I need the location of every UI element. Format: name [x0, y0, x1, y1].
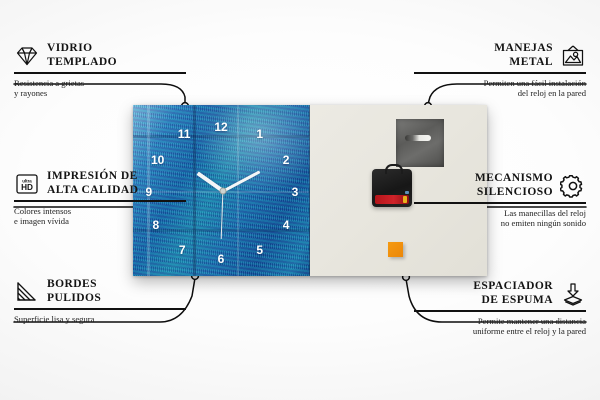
feature-description: Superficie lisa y segura — [14, 314, 186, 325]
clock-minute-hand — [222, 170, 260, 192]
ultra-hd-icon: ultra HD — [14, 172, 40, 196]
clock-numeral-10: 10 — [151, 154, 164, 166]
feature-manejas-metal: MANEJAS METAL Permiten una fácil instala… — [414, 42, 586, 99]
feature-title: MECANISMO SILENCIOSO — [414, 172, 553, 199]
feature-description: Permite mantener una distancia uniforme … — [414, 316, 586, 337]
foam-spacer — [388, 242, 403, 257]
feature-title: ESPACIADOR DE ESPUMA — [414, 280, 553, 307]
feature-divider — [14, 72, 186, 74]
feature-divider — [414, 202, 586, 204]
feature-divider — [14, 308, 186, 310]
battery — [375, 195, 409, 204]
feature-title: IMPRESIÓN DE ALTA CALIDAD — [47, 170, 138, 197]
hanger-slot — [405, 135, 431, 141]
feature-impresion-alta-calidad: ultra HD IMPRESIÓN DE ALTA CALIDAD Color… — [14, 170, 186, 227]
clock-numeral-5: 5 — [256, 244, 263, 256]
feature-vidrio-templado: VIDRIO TEMPLADO Resistencia a grietas y … — [14, 42, 186, 99]
feature-description: Permiten una fácil instalación del reloj… — [414, 78, 586, 99]
picture-frame-icon — [560, 44, 586, 68]
feature-espaciador-espuma: ESPACIADOR DE ESPUMA Permite mantener un… — [414, 280, 586, 337]
feature-mecanismo-silencioso: MECANISMO SILENCIOSO Las manecillas del … — [414, 172, 586, 229]
clock-numeral-1: 1 — [256, 128, 263, 140]
feature-title: MANEJAS METAL — [414, 42, 553, 69]
clock-center-pin — [220, 188, 227, 195]
clock-numeral-6: 6 — [218, 253, 225, 265]
feature-divider — [414, 72, 586, 74]
clock-numeral-7: 7 — [179, 244, 186, 256]
feature-divider — [414, 310, 586, 312]
feature-title: VIDRIO TEMPLADO — [47, 42, 117, 69]
feature-description: Las manecillas del reloj no emiten ningú… — [414, 208, 586, 229]
clock-second-hand — [221, 191, 224, 239]
mechanism-hook — [385, 164, 403, 174]
clock-numeral-8: 8 — [153, 219, 160, 231]
clock-numeral-4: 4 — [283, 219, 290, 231]
feature-title: BORDES PULIDOS — [47, 278, 101, 305]
feature-description: Colores intensos e imagen vívida — [14, 206, 186, 227]
clock-mechanism — [372, 169, 412, 207]
svg-text:HD: HD — [21, 183, 33, 192]
feature-divider — [14, 200, 186, 202]
mechanism-label-dot — [405, 191, 409, 194]
metal-hanger-plate — [396, 119, 444, 167]
feature-description: Resistencia a grietas y rayones — [14, 78, 186, 99]
clock-numeral-9: 9 — [145, 186, 152, 198]
clock-numeral-12: 12 — [214, 121, 227, 133]
clock-numeral-3: 3 — [292, 186, 299, 198]
clock-numeral-11: 11 — [178, 128, 191, 140]
foam-spacer-icon — [560, 282, 586, 306]
polished-edge-icon — [14, 280, 40, 304]
feature-bordes-pulidos: BORDES PULIDOS Superficie lisa y segura — [14, 278, 186, 324]
gear-icon — [560, 174, 586, 198]
clock-numeral-2: 2 — [283, 154, 290, 166]
infographic-canvas: 12 1 2 3 4 5 6 7 8 9 10 11 — [0, 0, 600, 400]
diamond-icon — [14, 44, 40, 68]
